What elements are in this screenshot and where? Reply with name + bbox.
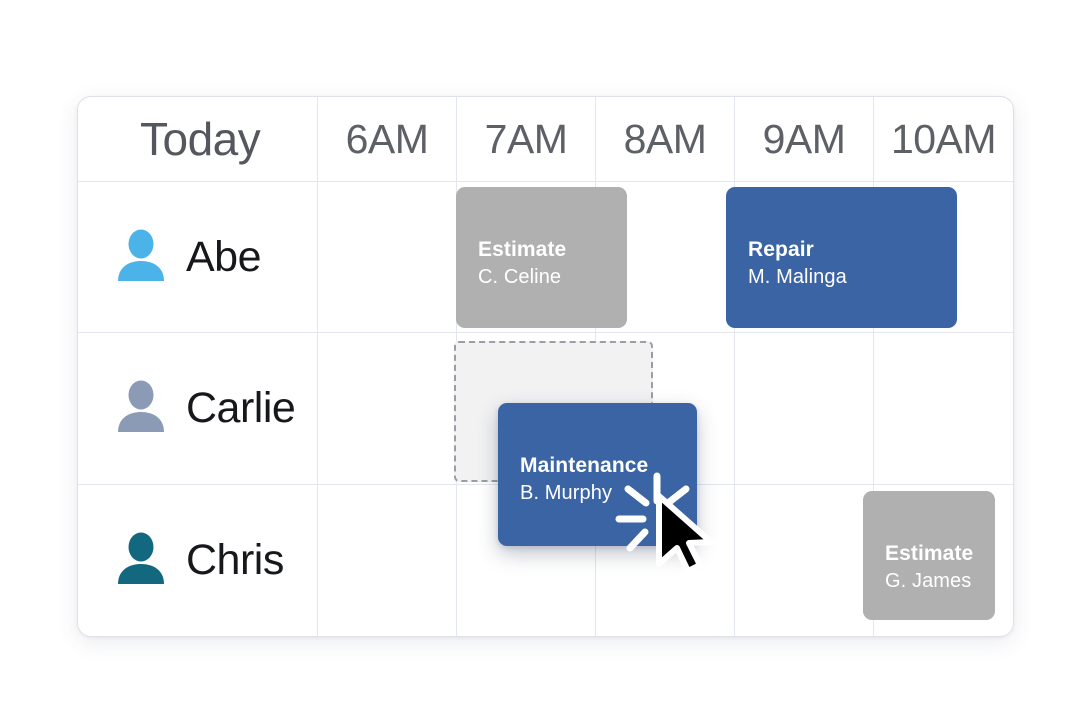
event-title: Estimate [885, 541, 995, 568]
slot-carlie-10am[interactable] [874, 333, 1013, 484]
time-label-7am: 7AM [485, 116, 568, 163]
slot-carlie-9am[interactable] [735, 333, 874, 484]
event-person: B. Murphy [520, 480, 697, 506]
column-header-9am: 9AM [735, 97, 874, 182]
column-header-10am: 10AM [874, 97, 1013, 182]
resource-row-abe[interactable]: Abe [78, 182, 318, 333]
column-header-8am: 8AM [596, 97, 735, 182]
slot-carlie-6am[interactable] [318, 333, 457, 484]
slot-abe-6am[interactable] [318, 182, 457, 333]
slot-chris-9am[interactable] [735, 485, 874, 636]
today-label: Today [140, 112, 260, 166]
event-title: Maintenance [520, 453, 697, 480]
event-title: Repair [748, 237, 957, 264]
person-name-abe: Abe [186, 233, 261, 282]
resource-row-chris[interactable]: Chris [78, 485, 318, 636]
scheduler-panel: Today 6AM 7AM 8AM 9AM 10AM Abe [77, 96, 1014, 637]
time-label-9am: 9AM [763, 116, 846, 163]
time-label-10am: 10AM [891, 116, 996, 163]
time-label-6am: 6AM [346, 116, 429, 163]
resource-row-carlie[interactable]: Carlie [78, 333, 318, 484]
event-title: Estimate [478, 237, 627, 264]
event-card-maintenance-murphy[interactable]: Maintenance B. Murphy [498, 403, 697, 546]
event-card-estimate-james[interactable]: Estimate G. James [863, 491, 995, 620]
person-avatar-icon [116, 380, 166, 437]
person-name-chris: Chris [186, 536, 284, 585]
person-avatar-icon [116, 229, 166, 286]
person-name-carlie: Carlie [186, 384, 295, 433]
event-card-estimate-celine[interactable]: Estimate C. Celine [456, 187, 627, 328]
column-header-today: Today [78, 97, 318, 182]
column-header-6am: 6AM [318, 97, 457, 182]
event-card-repair-malinga[interactable]: Repair M. Malinga [726, 187, 957, 328]
event-person: C. Celine [478, 264, 627, 290]
time-label-8am: 8AM [624, 116, 707, 163]
event-person: G. James [885, 568, 995, 594]
slot-chris-6am[interactable] [318, 485, 457, 636]
column-header-7am: 7AM [457, 97, 596, 182]
person-avatar-icon [116, 532, 166, 589]
event-person: M. Malinga [748, 264, 957, 290]
